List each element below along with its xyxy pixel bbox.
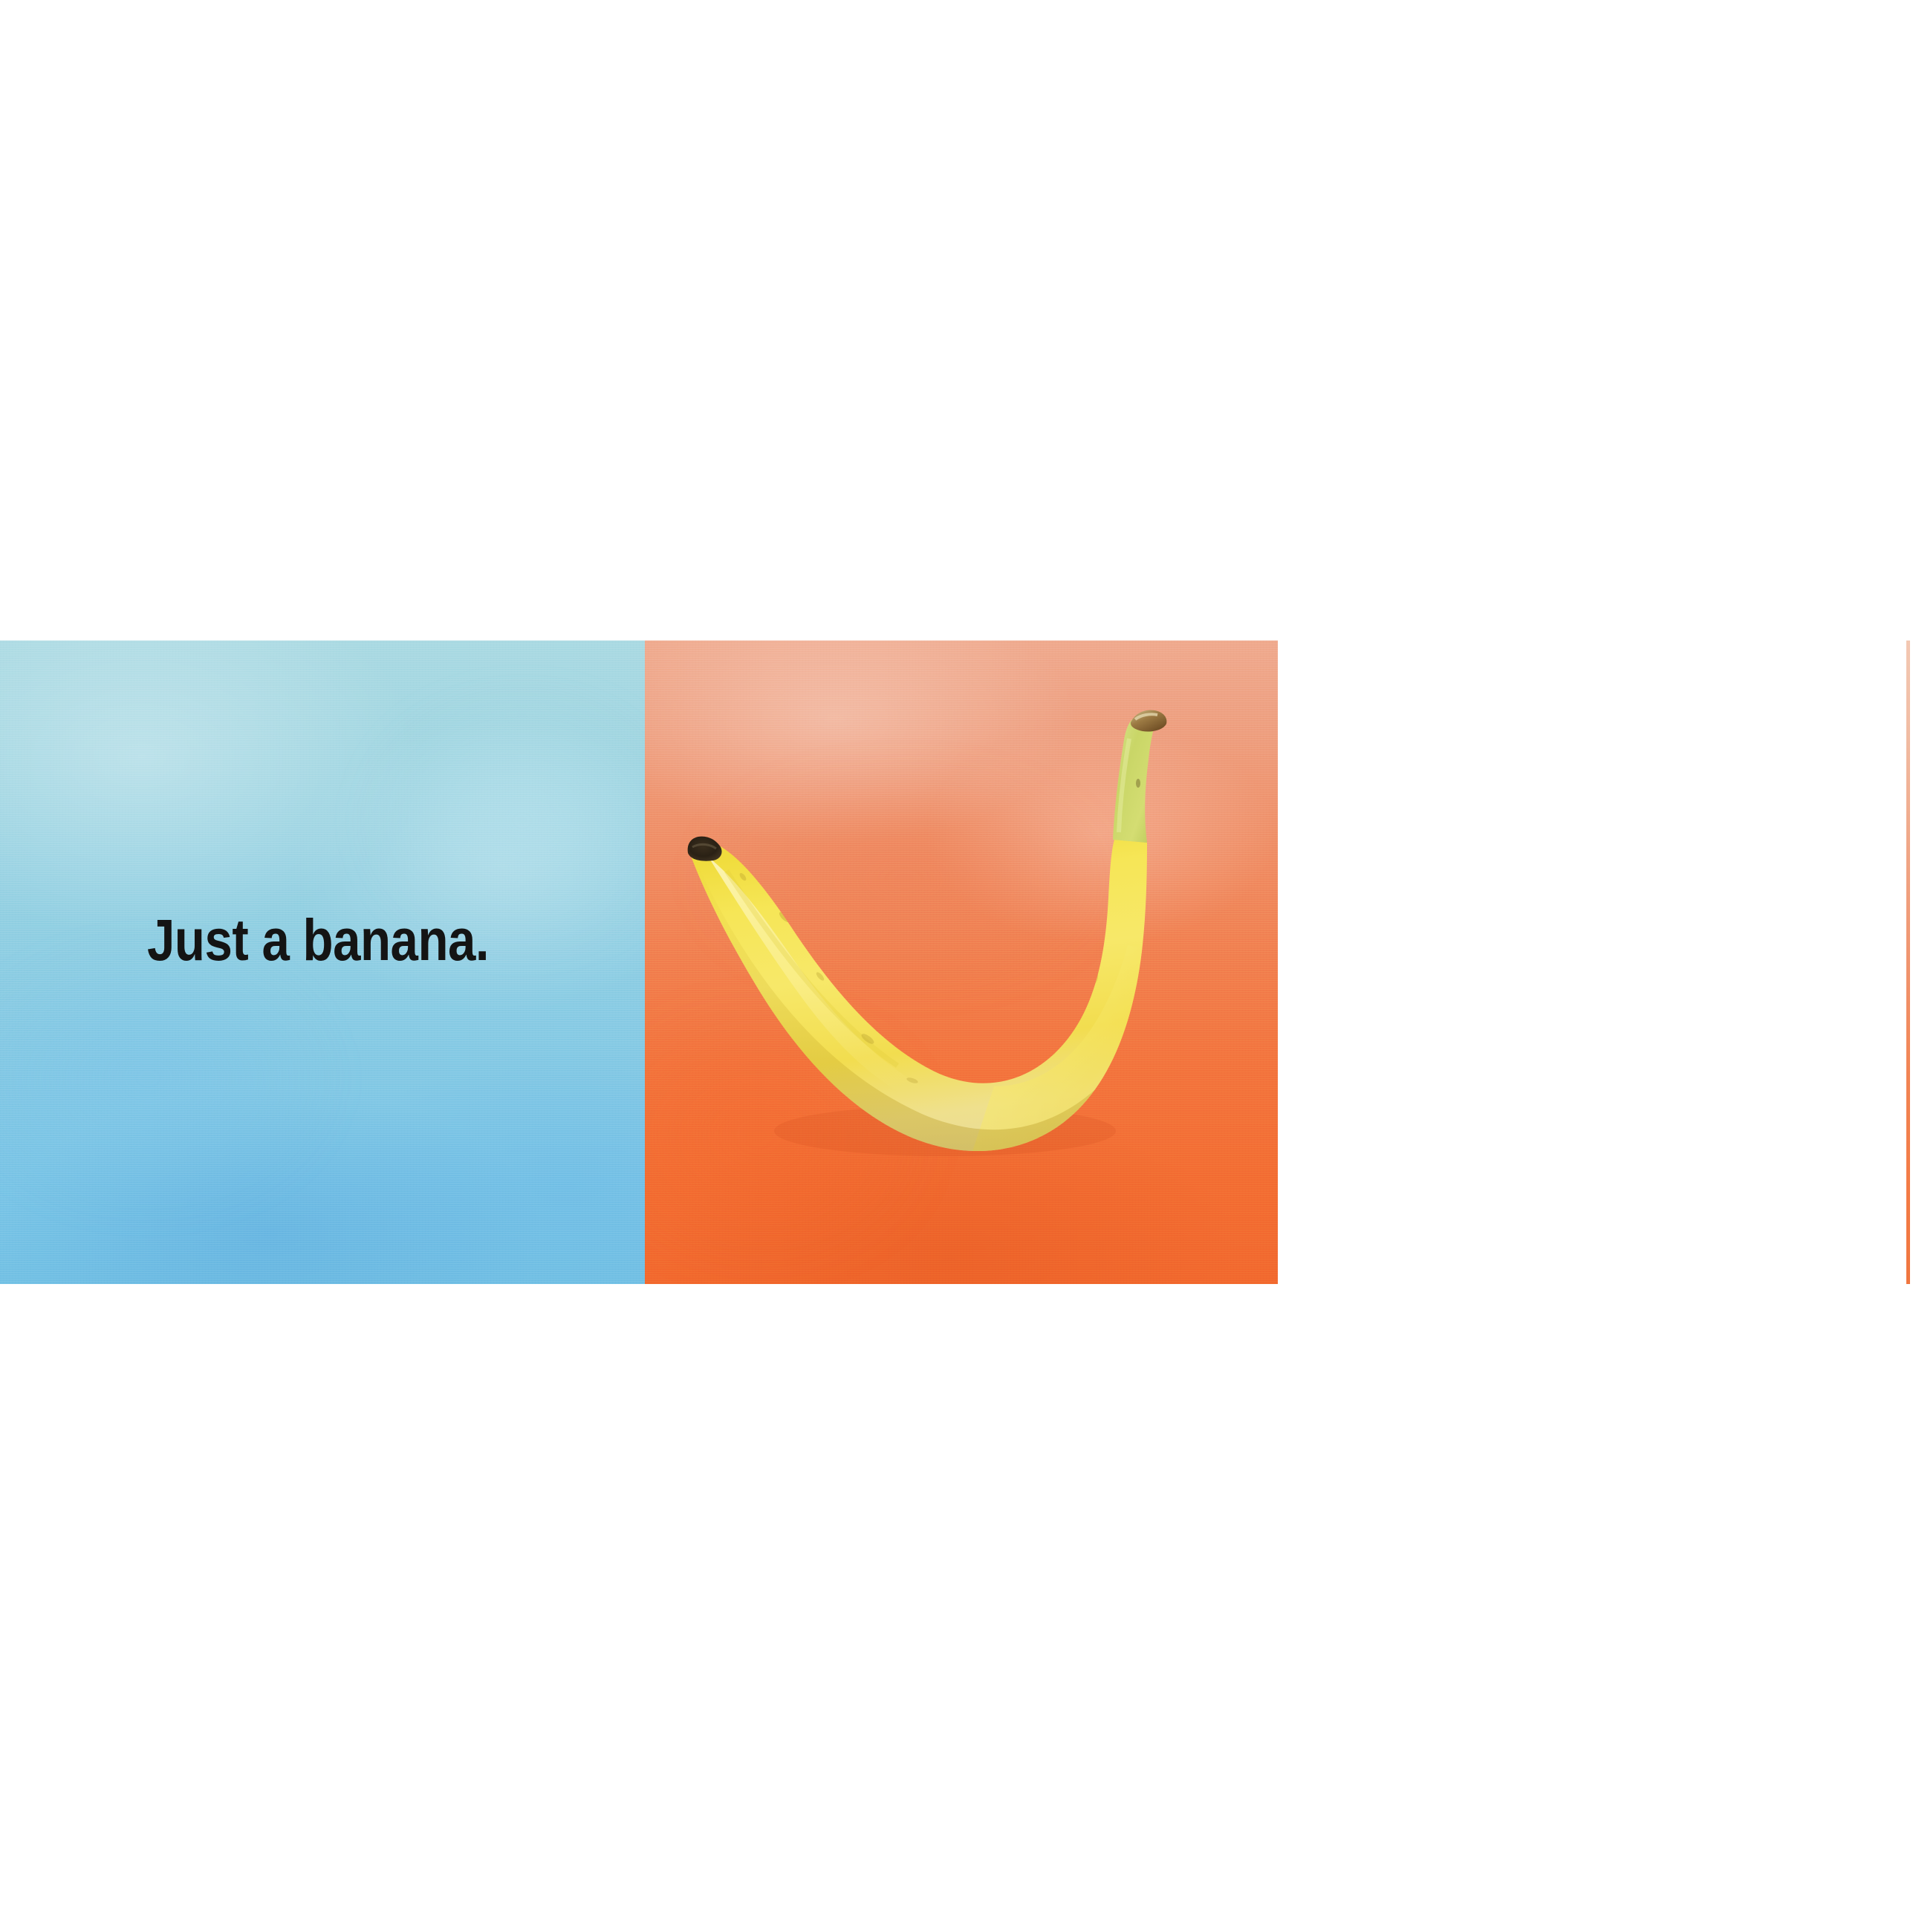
banana-stem bbox=[1113, 719, 1156, 843]
watercolor-wash-blue-lower bbox=[0, 950, 335, 1207]
banana-stem-tip-highlight bbox=[1135, 714, 1157, 719]
banana-blossom-tip-edge bbox=[692, 844, 716, 849]
banana-freckle bbox=[1089, 969, 1098, 984]
banana-stem-highlight bbox=[1119, 739, 1129, 832]
screenshot-canvas: Just a banana. bbox=[0, 0, 1913, 1932]
watercolor-wash-orange-lower bbox=[645, 1014, 923, 1258]
banana-right-limb-shading bbox=[964, 945, 1165, 1176]
book-page-right-photo bbox=[645, 641, 1278, 1284]
next-page-edge-sliver bbox=[1906, 641, 1910, 1284]
banana-freckle bbox=[815, 971, 825, 982]
banana-stem-cut-tip bbox=[1131, 710, 1166, 732]
page-caption-text: Just a banana. bbox=[147, 911, 547, 969]
watercolor-wash-blue-upper bbox=[374, 705, 645, 937]
watercolor-wash-orange-upper bbox=[708, 782, 1100, 976]
banana-stem-speck bbox=[1136, 779, 1140, 788]
